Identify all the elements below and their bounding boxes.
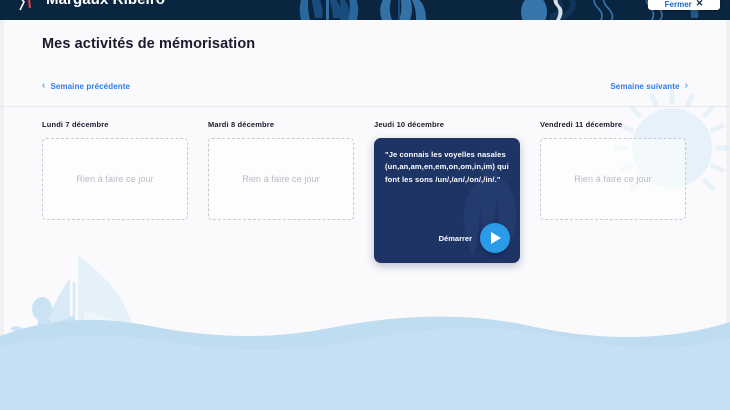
empty-day-text: Rien à faire ce jour — [574, 174, 652, 184]
day-column: Lundi 7 décembre Rien à faire ce jour — [42, 120, 188, 263]
empty-day-text: Rien à faire ce jour — [242, 174, 320, 184]
memorisation-task-card[interactable]: "Je connais les voyelles nasales (un,an,… — [374, 138, 520, 263]
wave-illustration — [0, 316, 730, 410]
app-window: Margaux Ribeiro Fermer ✕ — [0, 0, 730, 410]
user-name-label: Margaux Ribeiro — [46, 0, 165, 8]
day-column: Vendredi 11 décembre Rien à faire ce jou… — [540, 120, 686, 263]
previous-week-link[interactable]: ‹ Semaine précédente — [42, 81, 130, 91]
next-week-link[interactable]: Semaine suivante › — [610, 81, 688, 91]
week-navigation: ‹ Semaine précédente Semaine suivante › — [0, 75, 730, 105]
close-button[interactable]: Fermer ✕ — [648, 0, 720, 10]
day-label: Jeudi 10 décembre — [374, 120, 520, 129]
close-button-label: Fermer — [665, 0, 692, 9]
top-header-bar: Margaux Ribeiro Fermer ✕ — [0, 0, 730, 20]
close-icon: ✕ — [696, 0, 704, 9]
day-column: Mardi 8 décembre Rien à faire ce jour — [208, 120, 354, 263]
start-button-label: Démarrer — [439, 234, 472, 243]
empty-day-slot[interactable]: Rien à faire ce jour — [42, 138, 188, 220]
task-card-footer: Démarrer — [439, 223, 510, 253]
day-label: Vendredi 11 décembre — [540, 120, 686, 129]
day-column: Jeudi 10 décembre "Je connais les voyell… — [374, 120, 520, 263]
next-week-label: Semaine suivante — [610, 82, 679, 91]
week-day-columns: Lundi 7 décembre Rien à faire ce jour Ma… — [42, 120, 690, 263]
chevron-right-icon: › — [685, 81, 688, 91]
empty-day-slot[interactable]: Rien à faire ce jour — [208, 138, 354, 220]
page-body: Mes activités de mémorisation ‹ Semaine … — [0, 20, 730, 410]
chevron-left-icon: ‹ — [42, 81, 45, 91]
sailboat-illustration — [10, 256, 162, 392]
play-icon — [489, 231, 502, 245]
previous-week-label: Semaine précédente — [50, 82, 130, 91]
page-title: Mes activités de mémorisation — [42, 36, 255, 52]
start-play-button[interactable] — [480, 223, 510, 253]
day-label: Lundi 7 décembre — [42, 120, 188, 129]
section-divider — [0, 106, 730, 107]
empty-day-slot[interactable]: Rien à faire ce jour — [540, 138, 686, 220]
app-logo-icon — [14, 0, 42, 12]
empty-day-text: Rien à faire ce jour — [76, 174, 154, 184]
day-label: Mardi 8 décembre — [208, 120, 354, 129]
task-card-text: "Je connais les voyelles nasales (un,an,… — [385, 149, 509, 186]
